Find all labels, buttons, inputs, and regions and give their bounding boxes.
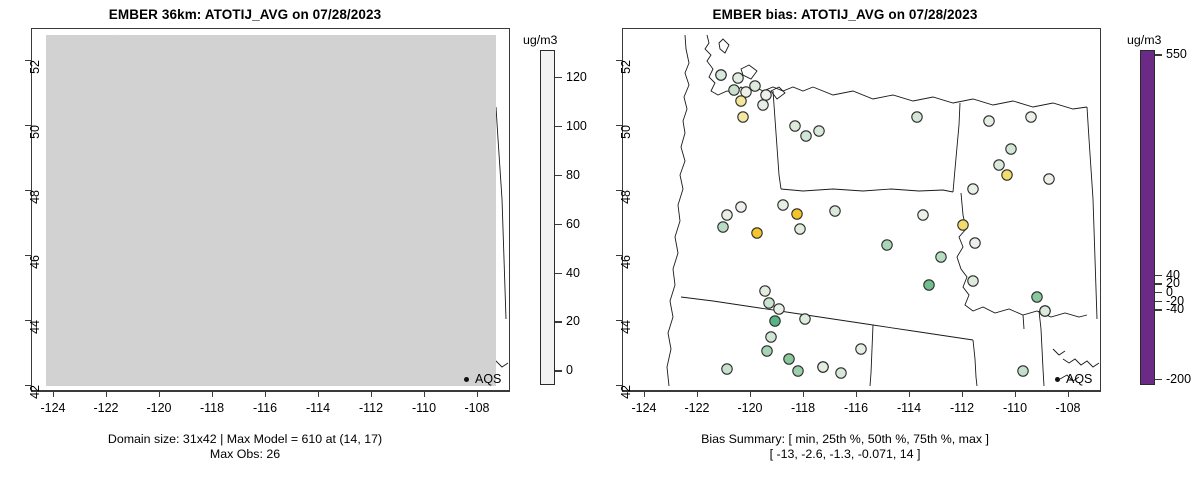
model-domain-background (46, 35, 496, 386)
x-tick-label: -118 (791, 401, 815, 415)
colorbar-tick (1155, 292, 1162, 293)
x-tick (265, 391, 266, 397)
model-concentration-panel: EMBER 36km: ATOTIJ_AVG on 07/28/2023 (0, 0, 600, 479)
x-tick (1015, 391, 1016, 397)
colorbar-tick-label: 60 (566, 217, 580, 231)
x-tick (909, 391, 910, 397)
x-tick-label: -124 (631, 401, 656, 415)
right-map-plot-area[interactable]: AQS (622, 28, 1101, 391)
x-tick-label: -112 (359, 401, 383, 415)
colorbar-tick (555, 321, 562, 322)
x-tick-label: -114 (897, 401, 921, 415)
colorbar-tick-label: 0 (566, 363, 573, 377)
x-tick (371, 391, 372, 397)
x-tick-label: -114 (306, 401, 330, 415)
x-tick-label: -122 (684, 401, 709, 415)
bias-observation-markers (716, 70, 1054, 378)
left-caption-line1: Domain size: 31x42 | Max Model = 610 at … (0, 432, 545, 447)
right-caption-line1: Bias Summary: [ min, 25th %, 50th %, 75t… (545, 432, 1145, 447)
colorbar-tick (1155, 275, 1162, 276)
colorbar-tick-label: 120 (566, 70, 587, 84)
right-colorbar-gradient (1140, 50, 1155, 385)
left-panel-title: EMBER 36km: ATOTIJ_AVG on 07/28/2023 (0, 7, 545, 22)
x-tick (962, 391, 963, 397)
colorbar-tick-label: 100 (566, 119, 587, 133)
x-tick-label: -110 (412, 401, 436, 415)
colorbar-tick (555, 77, 562, 78)
colorbar-tick (1155, 54, 1162, 55)
right-colorbar-unit: ug/m3 (1127, 33, 1161, 47)
x-tick-label: -110 (1003, 401, 1027, 415)
x-tick-label: -108 (464, 401, 489, 415)
aqs-legend-label: AQS (475, 372, 501, 386)
colorbar-tick (555, 175, 562, 176)
colorbar-tick-label: 20 (566, 314, 580, 328)
x-tick (750, 391, 751, 397)
x-tick-label: -120 (146, 401, 171, 415)
colorbar-tick (1155, 309, 1162, 310)
colorbar-tick-label: -200 (1166, 372, 1191, 386)
colorbar-tick-label: 40 (566, 266, 580, 280)
aqs-legend-label: AQS (1066, 372, 1092, 386)
x-tick-label: -112 (950, 401, 974, 415)
colorbar-tick-label: 40 (1166, 268, 1180, 282)
left-caption-line2: Max Obs: 26 (0, 447, 545, 462)
bias-panel: EMBER bias: ATOTIJ_AVG on 07/28/2023 (600, 0, 1200, 479)
left-colorbar-unit: ug/m3 (523, 33, 557, 47)
x-tick (106, 391, 107, 397)
colorbar-tick (555, 224, 562, 225)
x-tick (53, 391, 54, 397)
aqs-legend-dot (464, 377, 469, 382)
right-caption-line2: [ -13, -2.6, -1.3, -0.071, 14 ] (545, 447, 1145, 462)
right-panel-title: EMBER bias: ATOTIJ_AVG on 07/28/2023 (545, 7, 1145, 22)
x-tick (1068, 391, 1069, 397)
aqs-legend-dot (1055, 377, 1060, 382)
colorbar-tick (555, 370, 562, 371)
x-tick (424, 391, 425, 397)
x-tick-label: -124 (40, 401, 65, 415)
x-tick-label: -108 (1055, 401, 1080, 415)
colorbar-tick (1155, 301, 1162, 302)
x-tick (212, 391, 213, 397)
x-tick (856, 391, 857, 397)
left-colorbar-gradient (540, 50, 555, 385)
x-tick (644, 391, 645, 397)
colorbar-tick-label: 550 (1166, 47, 1187, 61)
right-map-svg (623, 29, 1101, 391)
x-tick-label: -116 (844, 401, 868, 415)
x-tick-label: -118 (200, 401, 224, 415)
x-tick-label: -122 (93, 401, 118, 415)
colorbar-tick (1155, 283, 1162, 284)
x-tick (697, 391, 698, 397)
x-tick (803, 391, 804, 397)
x-tick (477, 391, 478, 397)
colorbar-tick (555, 273, 562, 274)
x-tick (318, 391, 319, 397)
colorbar-tick (555, 126, 562, 127)
x-tick-label: -120 (737, 401, 762, 415)
colorbar-tick (1155, 379, 1162, 380)
x-tick-label: -116 (253, 401, 277, 415)
left-map-plot-area[interactable]: AQS (31, 28, 510, 391)
x-tick (159, 391, 160, 397)
colorbar-tick-label: 80 (566, 168, 580, 182)
